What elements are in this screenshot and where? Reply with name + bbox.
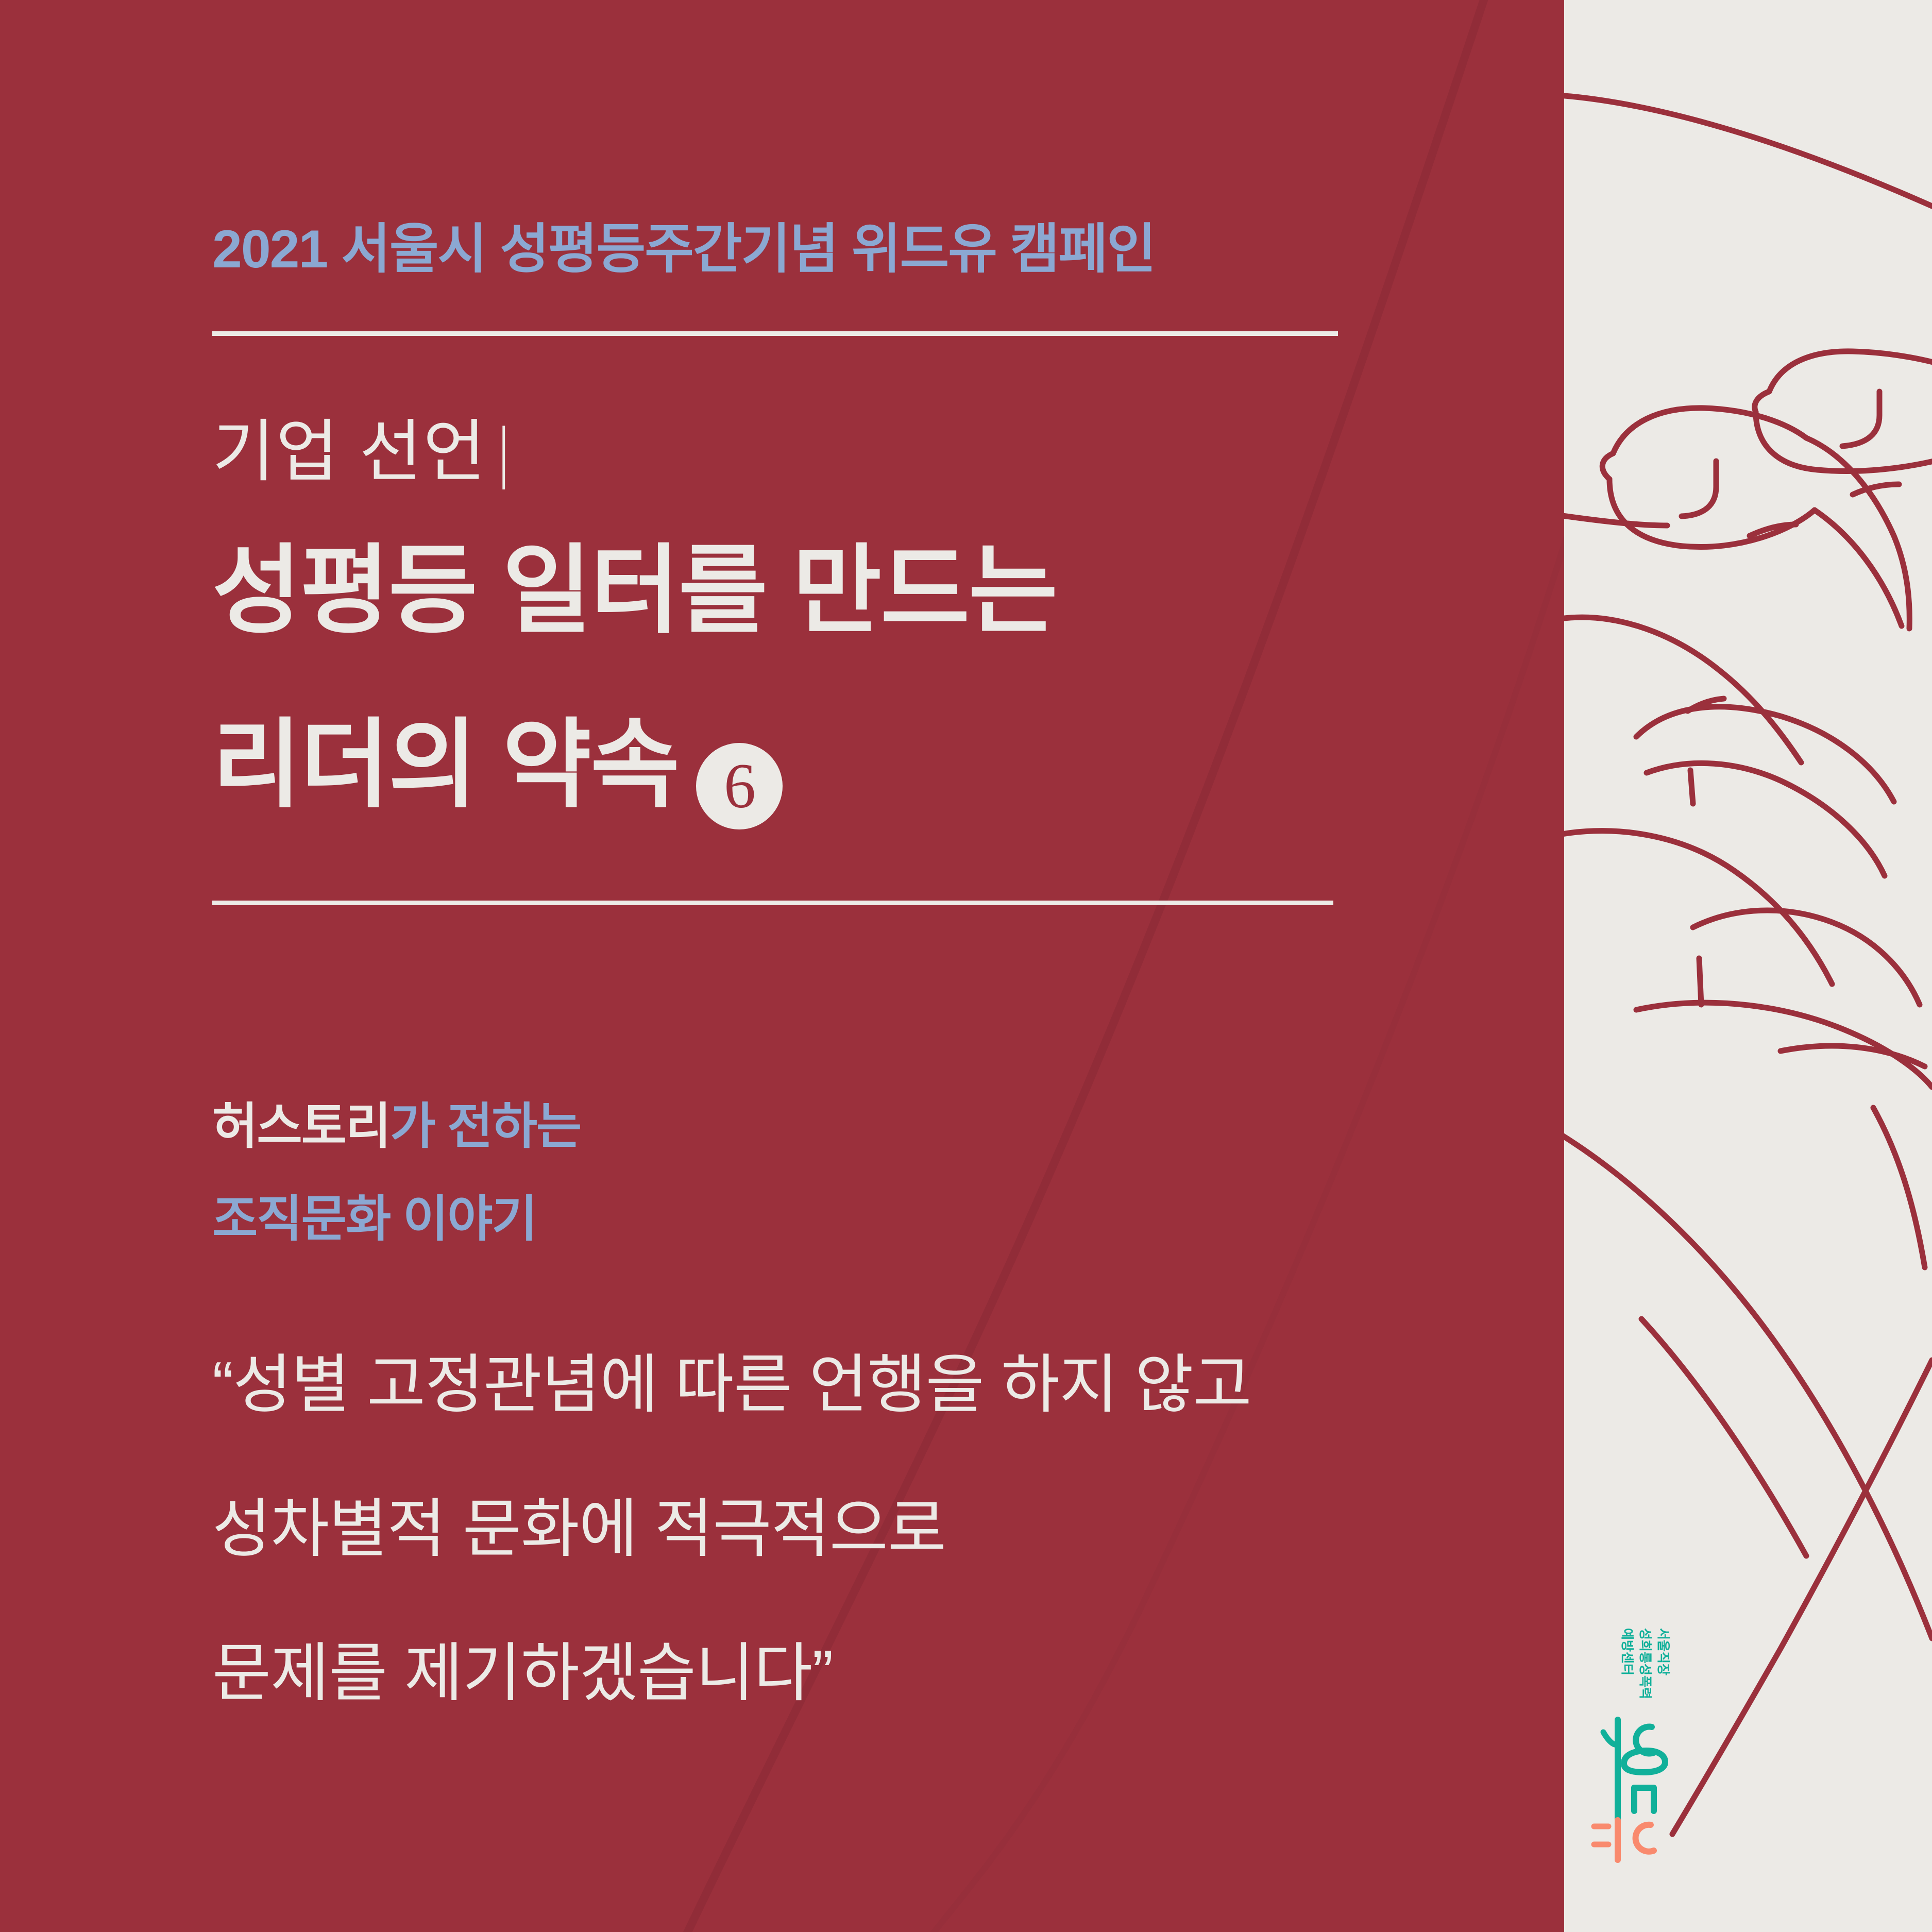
headline-line-2-text: 리더의 약속: [212, 710, 679, 819]
quote-line-1: “성별 고정관념에 따른 언행을 하지 않고: [212, 1353, 1251, 1417]
subtitle-line-2: 조직문화 이야기: [212, 1179, 536, 1250]
headline-line-1: 성평등 일터를 만드는: [212, 542, 1057, 639]
campaign-eyebrow: 2021 서울시 성평등주간기념 위드유 캠페인: [212, 205, 1155, 283]
title-kicker: 기업 선언|: [212, 397, 519, 495]
subtitle-line-1-rest: 가 전하는: [390, 1099, 581, 1154]
quote-line-2: 성차별적 문화에 적극적으로: [212, 1497, 946, 1561]
subtitle-brand: 허스토리: [212, 1099, 390, 1154]
divider-top: [212, 331, 1338, 336]
logo-org-col-1: 서울직장: [1656, 1628, 1670, 1675]
title-kicker-label: 기업 선언: [212, 414, 486, 489]
promise-number-badge: 6: [696, 743, 783, 829]
content-column: 2021 서울시 성평등주간기념 위드유 캠페인 기업 선언| 성평등 일터를 …: [212, 0, 1397, 1932]
title-kicker-divider: |: [500, 413, 508, 490]
organization-logo: 서울직장 성희롱성폭력 예방센터: [1577, 1618, 1731, 1886]
campaign-card: 2021 서울시 성평등주간기념 위드유 캠페인 기업 선언| 성평등 일터를 …: [0, 0, 1932, 1932]
divider-bottom: [212, 901, 1333, 905]
logo-org-col-3: 예방센터: [1620, 1628, 1634, 1675]
subtitle-line-1: 허스토리가 전하는: [212, 1086, 581, 1158]
headline-line-2: 리더의 약속6: [212, 716, 783, 829]
quote-line-3: 문제를 제기하겠습니다”: [212, 1641, 833, 1705]
logo-org-col-2: 성희롱성폭력: [1638, 1628, 1652, 1699]
